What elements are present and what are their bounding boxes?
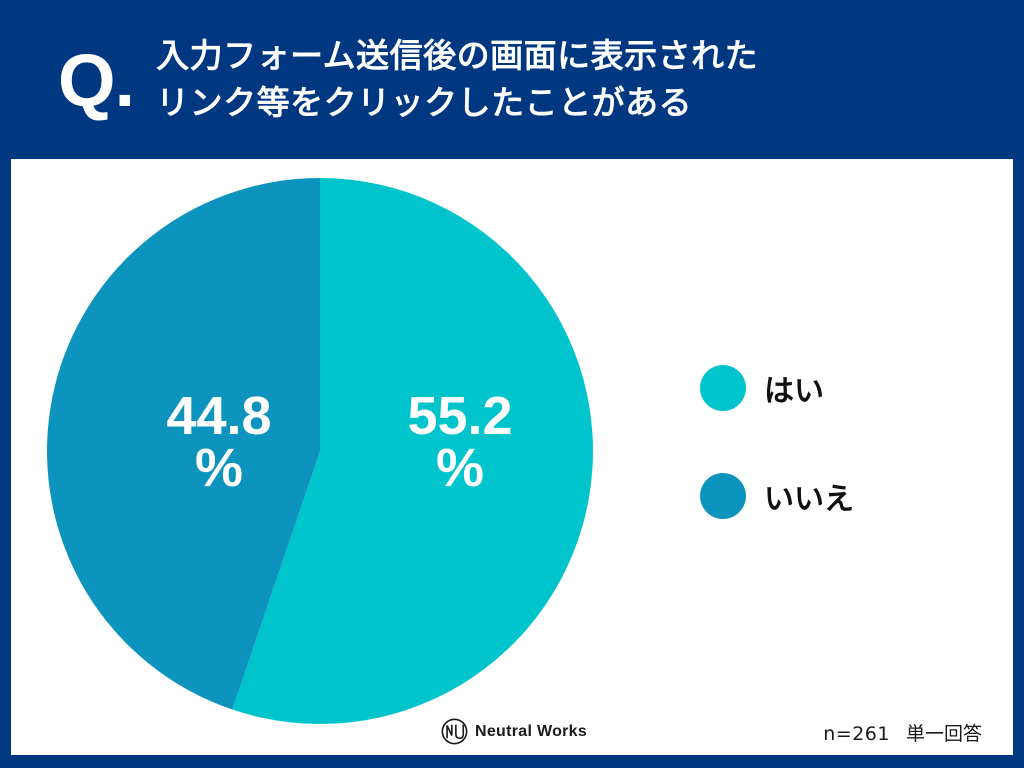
legend-swatch-icon-hai <box>700 365 746 411</box>
sample-size: n=261 <box>823 723 890 745</box>
slice-unit-iie: % <box>129 442 309 494</box>
chart-card: 55.2 % 44.8 % はい いいえ <box>11 159 1013 755</box>
answer-type: 単一回答 <box>906 723 982 745</box>
legend-item-iie[interactable]: いいえ <box>700 473 960 519</box>
title-line-1: 入力フォーム送信後の画面に表示された <box>156 32 758 79</box>
page-title: 入力フォーム送信後の画面に表示された リンク等をクリックしたことがある <box>156 32 758 126</box>
slice-value-iie: 44.8 <box>129 390 309 442</box>
slice-label-iie: 44.8 % <box>129 390 309 495</box>
brand-logo-text: Neutral Works <box>475 723 587 741</box>
slice-value-hai: 55.2 <box>370 390 550 442</box>
question-badge: Q. <box>58 44 134 118</box>
slice-unit-hai: % <box>370 442 550 494</box>
pie-chart: 55.2 % 44.8 % <box>47 178 593 724</box>
chart-legend: はい いいえ <box>700 365 960 519</box>
legend-label-hai: はい <box>764 366 824 410</box>
slide-root: Q. 入力フォーム送信後の画面に表示された リンク等をクリックしたことがある 5… <box>0 0 1024 768</box>
sample-note: n=261単一回答 <box>823 719 982 746</box>
legend-label-iie: いいえ <box>764 474 854 518</box>
legend-swatch-icon-iie <box>700 473 746 519</box>
header-band: Q. 入力フォーム送信後の画面に表示された リンク等をクリックしたことがある <box>0 0 1024 158</box>
legend-item-hai[interactable]: はい <box>700 365 960 411</box>
title-line-2: リンク等をクリックしたことがある <box>156 79 758 126</box>
slice-label-hai: 55.2 % <box>370 390 550 495</box>
neutral-works-mark-icon <box>441 718 468 745</box>
brand-logo: Neutral Works <box>441 718 587 745</box>
